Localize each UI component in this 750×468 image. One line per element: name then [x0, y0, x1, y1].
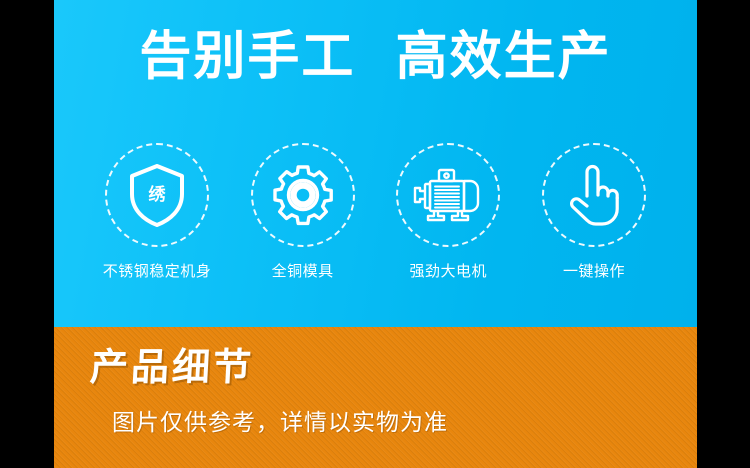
section-subtitle: 图片仅供参考，详情以实物为准	[112, 407, 448, 439]
electric-motor-icon	[412, 167, 484, 223]
section-title: 产品细节	[89, 344, 255, 390]
feature-icon-ring	[396, 143, 500, 247]
page-title: 告别手工 高效生产	[54, 26, 697, 88]
feature-label-stainless-body: 不锈钢稳定机身	[103, 261, 212, 281]
feature-icon-ring: 绣	[105, 143, 209, 247]
feature-item-powerful-motor: 强劲大电机	[387, 143, 509, 281]
feature-label-one-key-operation: 一键操作	[563, 261, 625, 281]
feature-list: 绣 不锈钢稳定机身	[54, 143, 697, 281]
feature-label-powerful-motor: 强劲大电机	[410, 261, 488, 281]
feature-label-copper-mold: 全铜模具	[272, 261, 334, 281]
feature-item-copper-mold: 全铜模具	[242, 143, 364, 281]
product-detail-banner: 产品细节 图片仅供参考，详情以实物为准	[54, 327, 697, 468]
pointing-hand-icon	[565, 162, 623, 228]
promo-page: 告别手工 高效生产 绣 不锈钢稳定机身	[0, 0, 750, 468]
gear-icon	[271, 163, 335, 227]
feature-icon-ring	[542, 143, 646, 247]
feature-item-stainless-body: 绣 不锈钢稳定机身	[96, 143, 218, 281]
feature-banner: 告别手工 高效生产 绣 不锈钢稳定机身	[54, 0, 697, 327]
shield-icon: 绣	[126, 162, 188, 228]
shield-glyph: 绣	[149, 184, 167, 205]
feature-item-one-key-operation: 一键操作	[533, 143, 655, 281]
feature-icon-ring	[251, 143, 355, 247]
